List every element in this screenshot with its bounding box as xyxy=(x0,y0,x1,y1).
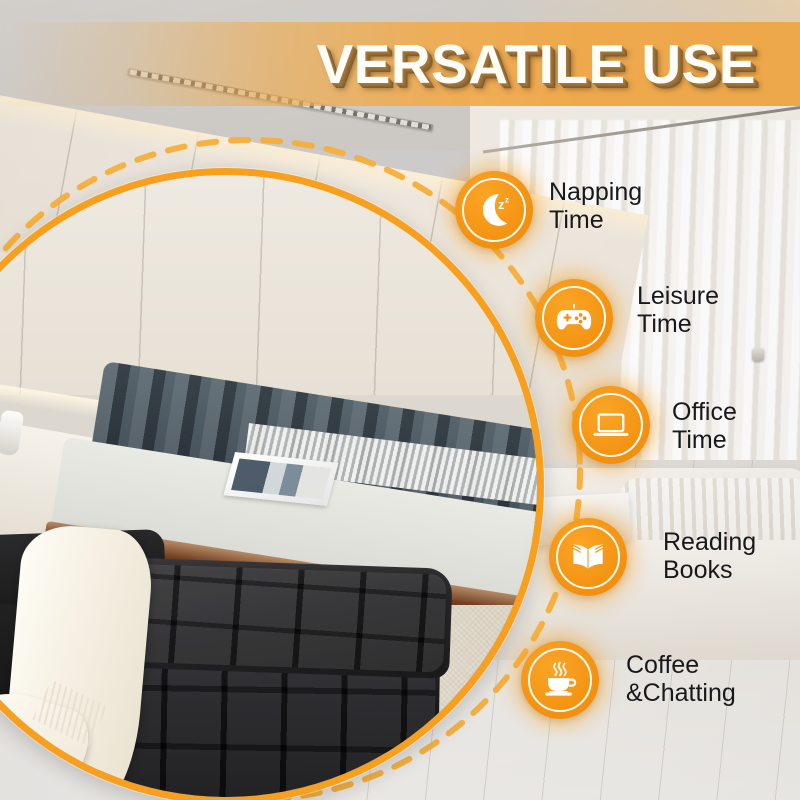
gamepad-icon xyxy=(553,297,595,339)
feature-badge-coffee[interactable] xyxy=(521,641,599,719)
curtain-hook xyxy=(752,348,764,361)
title-banner: VERSATILE USE xyxy=(0,22,800,106)
open-book-icon xyxy=(566,535,610,579)
ottoman-main-lid xyxy=(109,557,453,679)
feature-badge-reading[interactable] xyxy=(549,518,627,596)
feature-label-napping: Napping Time xyxy=(549,178,642,234)
feature-label-leisure: Leisure Time xyxy=(637,282,719,338)
laptop-icon xyxy=(590,404,632,446)
svg-text:z: z xyxy=(498,198,504,212)
feature-badge-leisure[interactable] xyxy=(535,279,613,357)
feature-label-office: Office Time xyxy=(672,398,737,454)
moon-zzz-icon: z z xyxy=(474,190,514,230)
infographic-canvas: VERSATILE USE z z Napping Time Leisure T… xyxy=(0,0,800,800)
product-zoom-bubble xyxy=(0,168,544,800)
page-title: VERSATILE USE xyxy=(317,32,756,96)
feature-badge-office[interactable] xyxy=(572,386,650,464)
feature-badge-napping[interactable]: z z xyxy=(455,171,533,249)
feature-label-reading: Reading Books xyxy=(663,528,756,584)
svg-text:z: z xyxy=(505,195,509,205)
coffee-cup-icon xyxy=(538,658,582,702)
feature-label-coffee: Coffee &Chatting xyxy=(626,651,736,707)
